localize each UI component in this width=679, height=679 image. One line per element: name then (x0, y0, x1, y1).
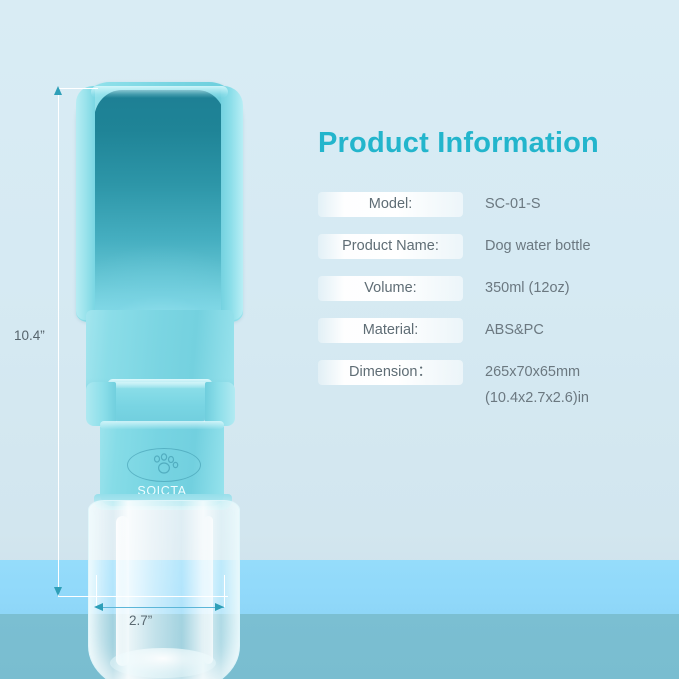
spec-row: Product Name: Dog water bottle (318, 234, 666, 259)
page-title: Product Information (318, 128, 666, 160)
bottle-collar-highlight (100, 421, 224, 429)
spec-value-dimension-in: (10.4x2.7x2.6)in (485, 385, 589, 412)
height-arrow-bottom-icon (54, 587, 62, 596)
spec-value-material: ABS&PC (485, 318, 544, 343)
hinge-right (205, 382, 235, 426)
spec-value-product-name: Dog water bottle (485, 234, 591, 259)
width-extension-line-right (224, 575, 225, 607)
height-dimension-label: 10.4” (14, 328, 45, 343)
spec-row: Material: ABS&PC (318, 318, 666, 343)
bowl-lid-edge-left (76, 86, 95, 320)
spec-label-volume: Volume: (318, 276, 463, 301)
bottle-highlight-left (116, 516, 129, 666)
width-arrow-right-icon (215, 603, 224, 611)
width-dimension-line (96, 607, 224, 608)
product-information-panel: Product Information Model: SC-01-S Produ… (318, 128, 666, 429)
bowl-lid-edge-right (221, 86, 243, 320)
spec-value-model: SC-01-S (485, 192, 541, 217)
product-illustration: SOICTA (64, 82, 264, 612)
spec-value-volume: 350ml (12oz) (485, 276, 570, 301)
height-dimension-line (58, 88, 59, 596)
spec-row: Volume: 350ml (12oz) (318, 276, 666, 301)
spec-value-dimension: 265x70x65mm (10.4x2.7x2.6)in (485, 360, 589, 412)
height-arrow-top-icon (54, 86, 62, 95)
bottle-highlight-right (204, 516, 213, 664)
spec-row: Dimension： 265x70x65mm (10.4x2.7x2.6)in (318, 360, 666, 412)
spec-label-dimension: Dimension： (318, 360, 463, 385)
lid-trough-lip (108, 379, 212, 388)
dimension-tick-bottom (58, 596, 228, 597)
paw-print-icon (148, 453, 180, 480)
product-information-image: SOICTA 10.4” 2.7” Product Information Mo… (0, 0, 679, 679)
dimension-tick-top (58, 88, 98, 89)
bowl-lid-interior (94, 90, 225, 316)
bottle-base (110, 648, 216, 678)
width-dimension-label: 2.7” (129, 613, 152, 628)
spec-value-dimension-mm: 265x70x65mm (485, 364, 580, 380)
spec-row: Model: SC-01-S (318, 192, 666, 217)
spec-label-model: Model: (318, 192, 463, 217)
spec-label-product-name: Product Name: (318, 234, 463, 259)
hinge-left (86, 382, 116, 426)
width-arrow-left-icon (94, 603, 103, 611)
bowl-lid-rim-highlight (91, 86, 228, 98)
spec-label-material: Material: (318, 318, 463, 343)
